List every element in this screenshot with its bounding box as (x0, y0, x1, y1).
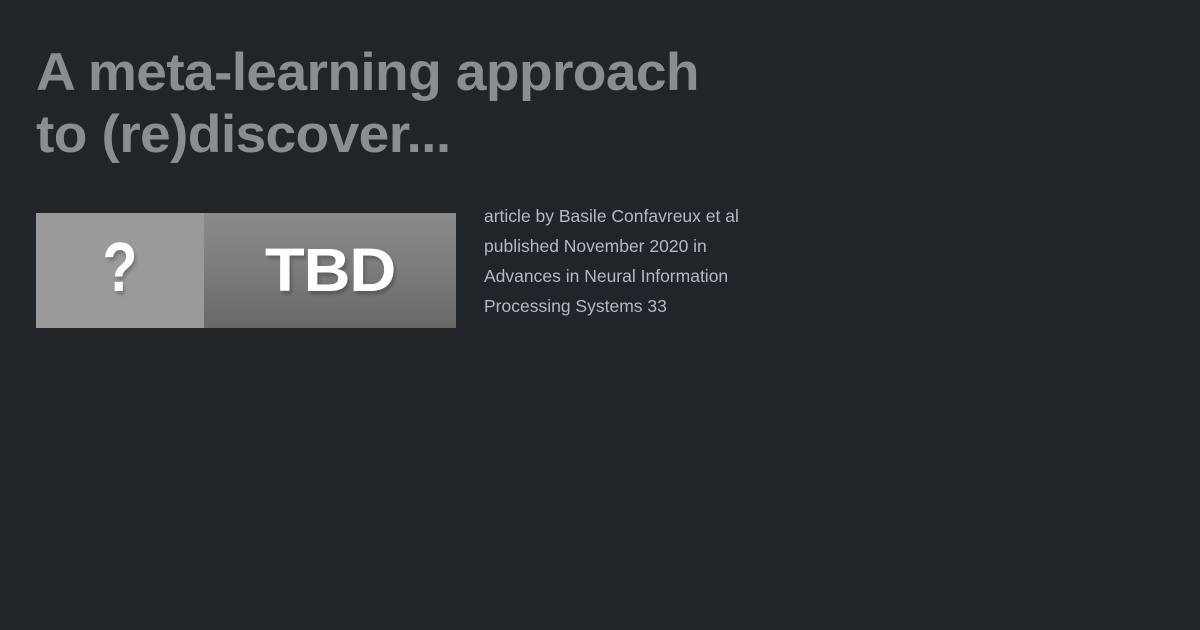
page-title: A meta-learning approach to (re)discover… (36, 42, 996, 166)
article-preview-card: A meta-learning approach to (re)discover… (0, 0, 1200, 630)
page-title-line-2: to (re)discover... (36, 104, 1034, 166)
metadata-line-published: published November 2020 in (484, 231, 904, 261)
article-body-row: ? TBD article by Basile Confavreux et al… (36, 213, 1166, 333)
metadata-line-author: article by Basile Confavreux et al (484, 201, 904, 231)
thumbnail-panel-left: ? (36, 213, 204, 328)
thumbnail-panel-right: TBD (204, 213, 456, 328)
metadata-line-venue-part-2: Processing Systems 33 (484, 291, 904, 321)
question-mark-icon: ? (103, 234, 138, 308)
page-title-line-1: A meta-learning approach (36, 42, 1034, 104)
metadata-line-venue-part-1: Advances in Neural Information (484, 261, 904, 291)
article-thumbnail: ? TBD (36, 213, 456, 328)
article-metadata: article by Basile Confavreux et al publi… (484, 201, 904, 321)
tbd-placeholder-label: TBD (265, 240, 395, 301)
